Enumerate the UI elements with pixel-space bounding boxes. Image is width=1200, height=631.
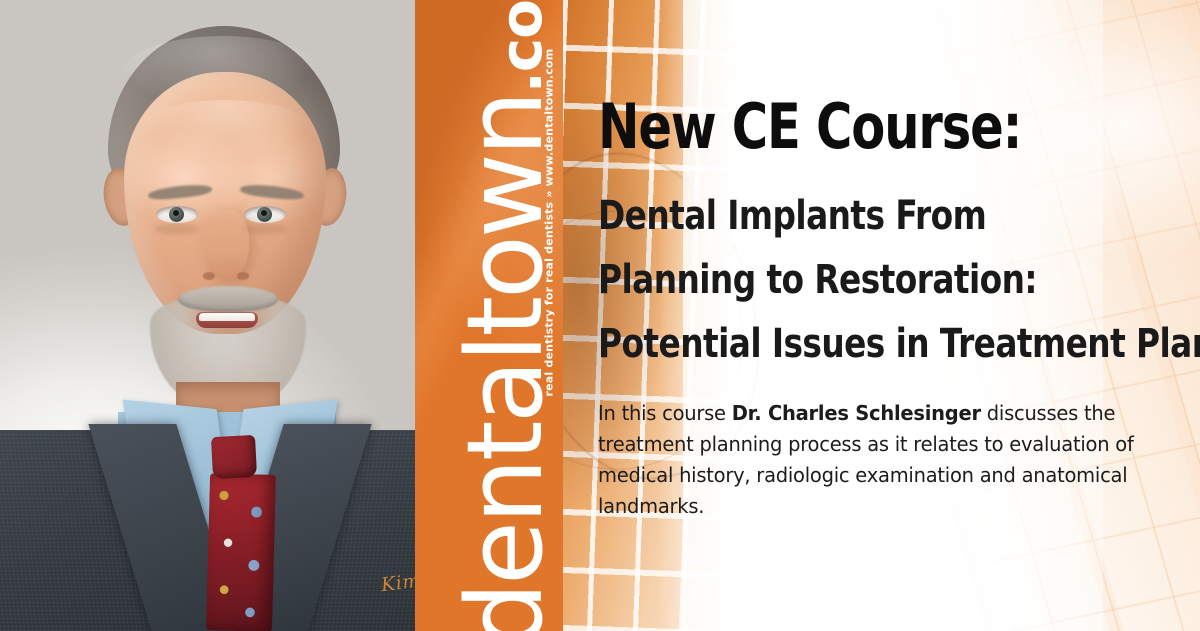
portrait-teeth xyxy=(199,313,255,321)
portrait-iris-left xyxy=(169,207,184,222)
photographer-signature: Kim xyxy=(380,570,415,597)
portrait-mouth xyxy=(196,312,258,328)
description-lead: In this course xyxy=(598,401,732,425)
portrait-necktie-knot xyxy=(211,435,257,479)
portrait-moustache xyxy=(178,286,278,312)
portrait-eye-shadow-left xyxy=(155,224,199,234)
dentaltown-logo-bar[interactable]: dentaltown.com real dentistry for real d… xyxy=(415,0,563,631)
portrait-forehead-highlight xyxy=(140,100,312,160)
course-subtitle-line-3: Potential Issues in Treatment Planning. xyxy=(598,324,1200,364)
portrait-nostril-left xyxy=(203,272,215,280)
portrait-necktie xyxy=(206,473,276,631)
page-title: New CE Course: xyxy=(598,96,1021,158)
presenter-portrait-photo: Kim xyxy=(0,0,415,631)
course-copy-block: New CE Course: Dental Implants From Plan… xyxy=(598,0,1198,631)
presenter-name: Dr. Charles Schlesinger xyxy=(732,401,981,425)
dentaltown-wordmark[interactable]: dentaltown.com xyxy=(453,32,557,631)
course-subtitle-line-1: Dental Implants From xyxy=(598,196,986,236)
portrait-nose xyxy=(203,210,249,280)
portrait-iris-right xyxy=(257,207,272,222)
course-description: In this course Dr. Charles Schlesinger d… xyxy=(598,398,1147,523)
portrait-eye-shadow-right xyxy=(243,224,287,234)
course-subtitle-line-2: Planning to Restoration: xyxy=(598,260,1037,300)
ce-course-promo-banner: Kim dentaltown.com real dentistry for re… xyxy=(0,0,1200,631)
course-content-area: New CE Course: Dental Implants From Plan… xyxy=(563,0,1200,631)
portrait-eye-right xyxy=(244,206,286,223)
portrait-eye-left xyxy=(156,206,198,223)
dentaltown-tagline: real dentistry for real dentists » www.d… xyxy=(543,107,556,397)
portrait-nostril-right xyxy=(237,272,249,280)
